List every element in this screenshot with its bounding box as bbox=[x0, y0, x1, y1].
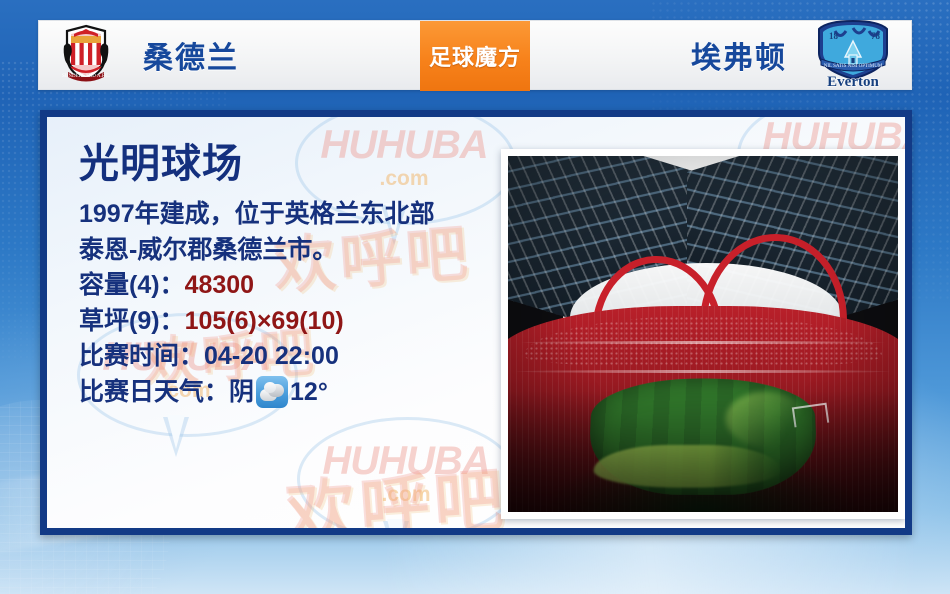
pitch-size-value: 105(6)×69(10) bbox=[185, 304, 344, 340]
stadium-photo bbox=[508, 156, 898, 512]
svg-text:18: 18 bbox=[829, 31, 839, 41]
sunderland-crest-icon: SUNDERLAND A.F.C. bbox=[55, 22, 117, 89]
away-team-name: 埃弗顿 bbox=[691, 33, 787, 77]
match-weather-label: 比赛日天气： bbox=[79, 375, 229, 411]
match-weather-value: 阴 bbox=[229, 375, 254, 411]
pitch-size-row: 草坪(9)： 105(6)×69(10) bbox=[79, 304, 499, 340]
watermark-brand-cn: 欢呼吧 bbox=[282, 443, 511, 528]
stadium-details: 光明球场 1997年建成，位于英格兰东北部 泰恩-威尔郡桑德兰市。 容量(4)：… bbox=[79, 143, 499, 410]
home-team-block[interactable]: SUNDERLAND A.F.C. 桑德兰 bbox=[55, 21, 239, 89]
stadium-name: 光明球场 bbox=[79, 143, 499, 185]
stadium-info-card: HUHUBA .com HUHUBA .com HUHUBA .com HUHU… bbox=[40, 110, 912, 535]
stadium-description-line-2: 泰恩-威尔郡桑德兰市。 bbox=[79, 233, 499, 269]
everton-crest-icon: 18 78 NIL SATIS NISI OPTIMUM Everton bbox=[809, 19, 897, 92]
svg-text:NIL SATIS NISI OPTIMUM: NIL SATIS NISI OPTIMUM bbox=[824, 64, 883, 69]
capacity-label: 容量(4)： bbox=[79, 268, 185, 304]
watermark-brand-domain: .com bbox=[311, 483, 501, 507]
match-temperature: 12° bbox=[290, 375, 328, 411]
site-logo[interactable]: 足球魔方 bbox=[420, 21, 530, 91]
screenshot-root: SUNDERLAND A.F.C. 桑德兰 足球魔方 埃弗顿 bbox=[0, 0, 950, 594]
pitch-size-label: 草坪(9)： bbox=[79, 304, 185, 340]
match-time-label: 比赛时间： bbox=[79, 339, 204, 375]
svg-text:78: 78 bbox=[871, 31, 881, 41]
match-header-bar: SUNDERLAND A.F.C. 桑德兰 足球魔方 埃弗顿 bbox=[38, 20, 912, 90]
capacity-row: 容量(4)： 48300 bbox=[79, 268, 499, 304]
match-time-row: 比赛时间： 04-20 22:00 bbox=[79, 339, 499, 375]
match-weather-row: 比赛日天气： 阴 12° bbox=[79, 375, 499, 411]
cloudy-icon bbox=[256, 376, 288, 408]
home-team-name: 桑德兰 bbox=[143, 33, 239, 77]
stadium-description-line-1: 1997年建成，位于英格兰东北部 bbox=[79, 197, 499, 233]
svg-text:Everton: Everton bbox=[827, 74, 879, 87]
match-time-value: 04-20 22:00 bbox=[204, 339, 339, 375]
away-team-block[interactable]: 埃弗顿 18 78 NIL SATIS NISI OP bbox=[691, 21, 897, 89]
stadium-photo-frame bbox=[501, 149, 905, 519]
watermark-bubble-bottom: HUHUBA .com bbox=[297, 417, 512, 528]
site-logo-text: 足球魔方 bbox=[429, 40, 521, 72]
capacity-value: 48300 bbox=[185, 268, 255, 304]
svg-text:SUNDERLAND A.F.C.: SUNDERLAND A.F.C. bbox=[62, 74, 110, 79]
watermark-brand-latin: HUHUBA bbox=[311, 439, 501, 484]
